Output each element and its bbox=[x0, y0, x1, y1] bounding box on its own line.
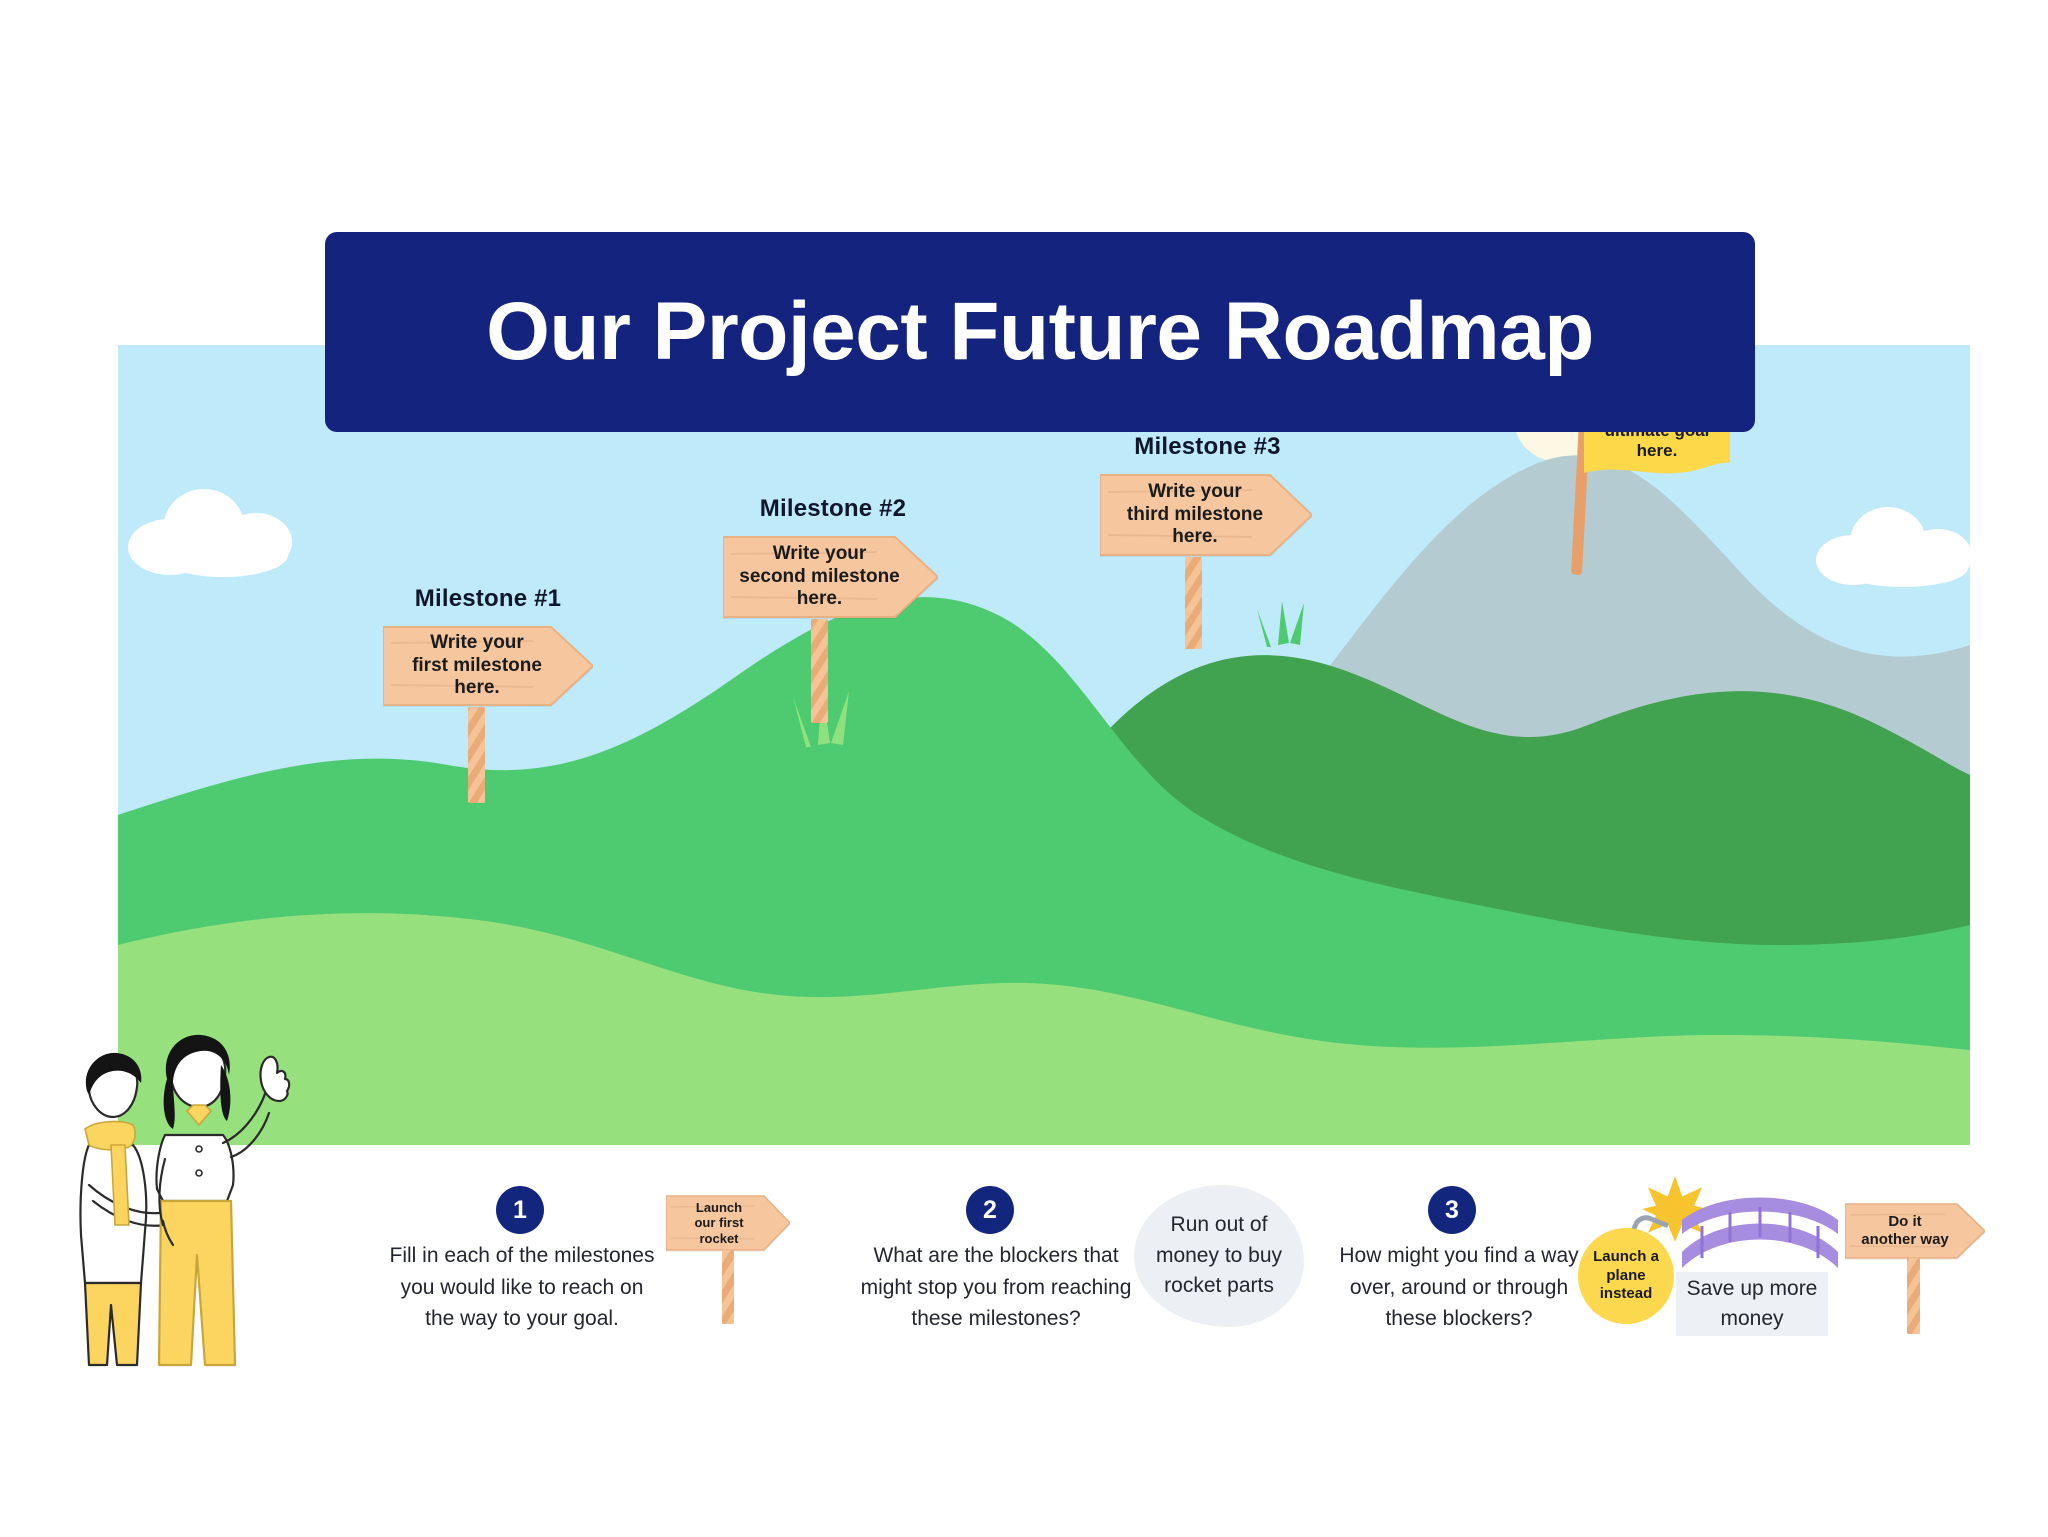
step-1-example-post bbox=[722, 1250, 734, 1324]
milestone-1-label: Milestone #1 bbox=[373, 585, 603, 613]
milestone-3-text: Write your third milestone here. bbox=[1100, 469, 1312, 561]
step-1-example-signpost[interactable]: Launch our first rocket bbox=[666, 1192, 806, 1332]
step-1-example-board: Launch our first rocket bbox=[666, 1192, 790, 1254]
step-3-solution-board: Do it another way bbox=[1845, 1200, 1985, 1262]
step-3-solution-post bbox=[1907, 1258, 1920, 1334]
milestone-2-board: Write your second milestone here. bbox=[723, 531, 938, 623]
milestone-1-signpost[interactable]: Milestone #1 Write your first milestone … bbox=[373, 585, 603, 815]
milestone-1-post bbox=[468, 707, 485, 803]
milestone-1-text: Write your first milestone here. bbox=[383, 621, 593, 711]
milestone-3-label: Milestone #3 bbox=[1090, 433, 1325, 461]
milestone-2-text: Write your second milestone here. bbox=[723, 531, 938, 623]
step-3-text: How might you find a way over, around or… bbox=[1330, 1240, 1588, 1335]
people-illustration bbox=[55, 1025, 355, 1385]
step-3-badge: 3 bbox=[1428, 1186, 1476, 1234]
milestone-3-signpost[interactable]: Milestone #3 Write your third milestone … bbox=[1090, 433, 1325, 683]
step-1-text: Fill in each of the milestones you would… bbox=[388, 1240, 656, 1335]
roadmap-scene-panel: Milestone #1 Write your first milestone … bbox=[118, 345, 1970, 1145]
step-1-example-text: Launch our first rocket bbox=[666, 1192, 790, 1254]
step-3-solution-bomb[interactable]: Launch a plane instead bbox=[1578, 1228, 1674, 1324]
step-3-solution-signpost[interactable]: Do it another way bbox=[1845, 1200, 1995, 1340]
milestone-3-post bbox=[1185, 557, 1202, 649]
step-1-badge: 1 bbox=[496, 1186, 544, 1234]
step-2-badge: 2 bbox=[966, 1186, 1014, 1234]
milestone-2-label: Milestone #2 bbox=[713, 495, 953, 523]
step-2-blocker-rock[interactable]: Run out of money to buy rocket parts bbox=[1134, 1185, 1304, 1327]
page-title-banner: Our Project Future Roadmap bbox=[325, 232, 1755, 432]
milestone-2-signpost[interactable]: Milestone #2 Write your second milestone… bbox=[713, 495, 953, 735]
step-3-solution-bridge-label[interactable]: Save up more money bbox=[1676, 1272, 1828, 1336]
step-3-solution-text: Do it another way bbox=[1845, 1200, 1985, 1262]
page-title: Our Project Future Roadmap bbox=[486, 285, 1594, 379]
step-2-text: What are the blockers that might stop yo… bbox=[856, 1240, 1136, 1335]
milestone-2-post bbox=[811, 619, 828, 723]
milestone-1-board: Write your first milestone here. bbox=[383, 621, 593, 711]
milestone-3-board: Write your third milestone here. bbox=[1100, 469, 1312, 561]
step-3-solution-bridge-icon[interactable] bbox=[1680, 1190, 1840, 1282]
